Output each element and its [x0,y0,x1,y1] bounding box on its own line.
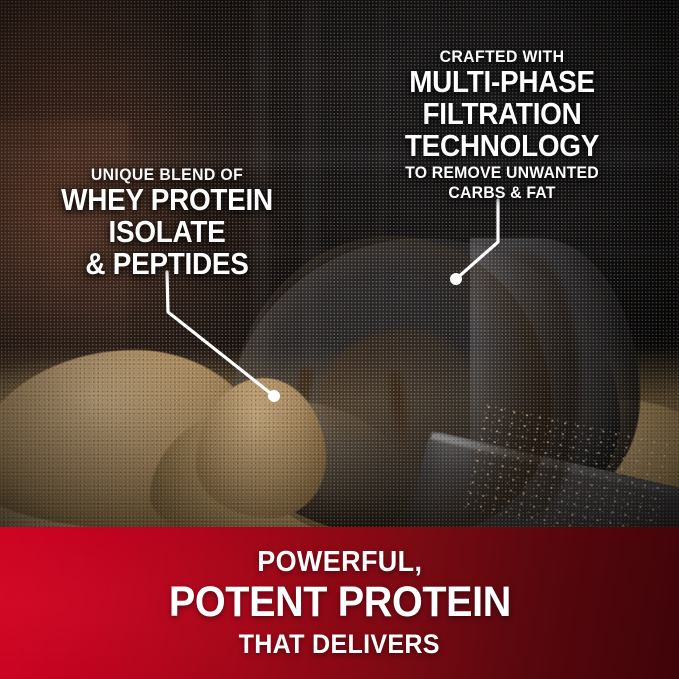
callout-kicker: UNIQUE BLEND OF [32,166,302,183]
callout-subline: TO REMOVE UNWANTED [363,164,642,181]
callout-headline: MULTI-PHASE FILTRATION TECHNOLOGY [352,66,652,161]
banner-line-2: POTENT PROTEIN [168,581,510,625]
banner-line-3: THAT DELIVERS [239,631,440,658]
bottom-red-banner: POWERFUL, POTENT PROTEIN THAT DELIVERS [0,527,679,679]
callout-headline: WHEY PROTEIN ISOLATE & PEPTIDES [22,184,312,279]
callout-headline-line: MULTI-PHASE [367,66,637,97]
callout-headline-line: & PEPTIDES [37,248,298,279]
callout-headline-line: TECHNOLOGY [367,130,637,161]
callout-headline-line: WHEY PROTEIN [37,184,298,215]
banner-line-1: POWERFUL, [257,548,422,577]
callout-headline-line: FILTRATION [367,98,637,129]
banner-text-block: POWERFUL, POTENT PROTEIN THAT DELIVERS [0,527,679,679]
callout-kicker: CRAFTED WITH [363,48,642,65]
product-photo: CRAFTED WITH MULTI-PHASE FILTRATION TECH… [0,0,679,527]
callout-subline: CARBS & FAT [363,184,642,201]
callout-headline-line: ISOLATE [37,216,298,247]
callout-multi-phase-filtration: CRAFTED WITH MULTI-PHASE FILTRATION TECH… [352,48,652,201]
callout-whey-protein-isolate: UNIQUE BLEND OF WHEY PROTEIN ISOLATE & P… [22,166,312,279]
product-marketing-image: CRAFTED WITH MULTI-PHASE FILTRATION TECH… [0,0,679,679]
